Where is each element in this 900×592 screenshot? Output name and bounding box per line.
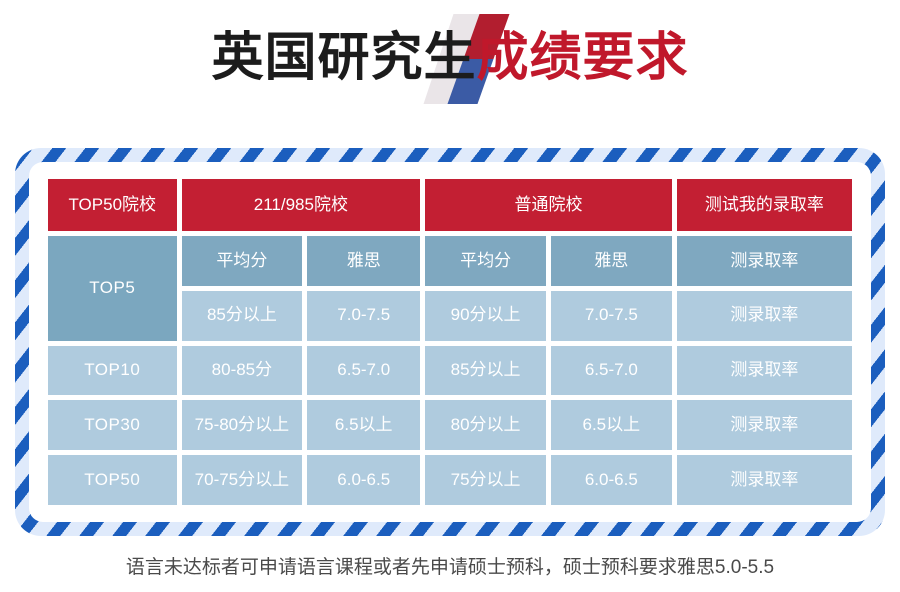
table-row: TOP10 80-85分 6.5-7.0 85分以上 6.5-7.0 测录取率 bbox=[48, 346, 852, 396]
row-rank-top5: TOP5 bbox=[48, 236, 177, 341]
test-rate-button-top5[interactable]: 测录取率 bbox=[677, 291, 852, 341]
cell-avg-normal-top30: 80分以上 bbox=[425, 400, 546, 450]
table-header-row: TOP50院校 211/985院校 普通院校 测试我的录取率 bbox=[48, 179, 852, 231]
cell-ielts-211-top10: 6.5-7.0 bbox=[307, 346, 420, 396]
test-rate-button-top50[interactable]: 测录取率 bbox=[677, 455, 852, 505]
page-title-secondary: 成绩要求 bbox=[477, 32, 689, 84]
cell-avg-211-top5: 85分以上 bbox=[182, 291, 303, 341]
striped-frame: TOP50院校 211/985院校 普通院校 测试我的录取率 TOP5 平均分 … bbox=[15, 148, 885, 536]
cell-avg-normal-top10: 85分以上 bbox=[425, 346, 546, 396]
table-row: TOP30 75-80分以上 6.5以上 80分以上 6.5以上 测录取率 bbox=[48, 400, 852, 450]
table-subheader-row: TOP5 平均分 雅思 平均分 雅思 测录取率 bbox=[48, 236, 852, 286]
row-rank-top50: TOP50 bbox=[48, 455, 177, 505]
page-title-primary: 英国研究生 bbox=[211, 32, 476, 84]
row-rank-top30: TOP30 bbox=[48, 400, 177, 450]
subheader-avg-211: 平均分 bbox=[182, 236, 303, 286]
cell-ielts-normal-top30: 6.5以上 bbox=[551, 400, 672, 450]
header-normal-school: 普通院校 bbox=[425, 179, 671, 231]
cell-avg-211-top50: 70-75分以上 bbox=[182, 455, 303, 505]
cell-avg-211-top10: 80-85分 bbox=[182, 346, 303, 396]
subheader-test-rate-button[interactable]: 测录取率 bbox=[677, 236, 852, 286]
cell-ielts-normal-top10: 6.5-7.0 bbox=[551, 346, 672, 396]
title-area: 英国研究生 成绩要求 bbox=[0, 0, 900, 128]
subheader-ielts-normal: 雅思 bbox=[551, 236, 672, 286]
table-row: TOP50 70-75分以上 6.0-6.5 75分以上 6.0-6.5 测录取… bbox=[48, 455, 852, 505]
footnote-text: 语言未达标者可申请语言课程或者先申请硕士预科，硕士预科要求雅思5.0-5.5 bbox=[0, 552, 900, 579]
cell-ielts-211-top5: 7.0-7.5 bbox=[307, 291, 420, 341]
cell-ielts-normal-top50: 6.0-6.5 bbox=[551, 455, 672, 505]
cell-avg-normal-top5: 90分以上 bbox=[425, 291, 546, 341]
cell-avg-211-top30: 75-80分以上 bbox=[182, 400, 303, 450]
header-test-admission-rate[interactable]: 测试我的录取率 bbox=[677, 179, 852, 231]
page-title: 英国研究生 成绩要求 bbox=[211, 16, 688, 100]
test-rate-button-top10[interactable]: 测录取率 bbox=[677, 346, 852, 396]
cell-ielts-211-top50: 6.0-6.5 bbox=[307, 455, 420, 505]
subheader-avg-normal: 平均分 bbox=[425, 236, 546, 286]
row-rank-top10: TOP10 bbox=[48, 346, 177, 396]
cell-ielts-normal-top5: 7.0-7.5 bbox=[551, 291, 672, 341]
header-rank: TOP50院校 bbox=[48, 179, 177, 231]
subheader-ielts-211: 雅思 bbox=[307, 236, 420, 286]
header-211-985: 211/985院校 bbox=[182, 179, 421, 231]
cell-ielts-211-top30: 6.5以上 bbox=[307, 400, 420, 450]
test-rate-button-top30[interactable]: 测录取率 bbox=[677, 400, 852, 450]
requirements-table: TOP50院校 211/985院校 普通院校 测试我的录取率 TOP5 平均分 … bbox=[43, 174, 857, 510]
cell-avg-normal-top50: 75分以上 bbox=[425, 455, 546, 505]
table-card: TOP50院校 211/985院校 普通院校 测试我的录取率 TOP5 平均分 … bbox=[29, 162, 871, 522]
